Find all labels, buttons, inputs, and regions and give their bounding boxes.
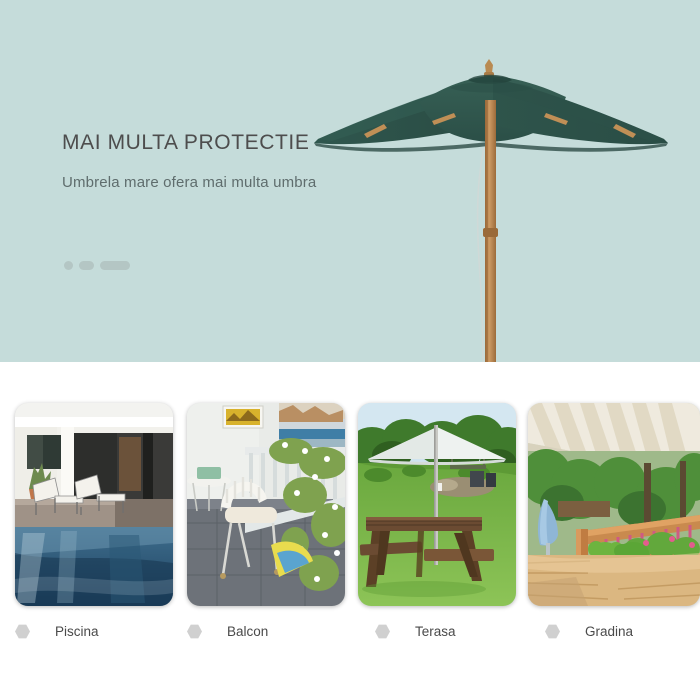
hero-product-image xyxy=(300,40,700,362)
caption-label: Terasa xyxy=(415,624,456,639)
hero-subtitle: Umbrela mare ofera mai multa umbra xyxy=(62,174,462,191)
thumbnail-gradina[interactable] xyxy=(528,403,700,606)
hexagon-bullet-icon xyxy=(545,624,560,639)
thumbnail-captions: Piscina Balcon Terasa Gradina xyxy=(0,624,700,664)
caption-terasa[interactable]: Terasa xyxy=(375,624,456,639)
hero-copy: MAI MULTA PROTECTIE Umbrela mare ofera m… xyxy=(62,131,462,191)
thumbnail-terasa[interactable] xyxy=(358,403,516,606)
caption-balcon[interactable]: Balcon xyxy=(187,624,268,639)
caption-gradina[interactable]: Gradina xyxy=(545,624,633,639)
pagination-dot-1[interactable] xyxy=(64,261,73,270)
hero-banner: MAI MULTA PROTECTIE Umbrela mare ofera m… xyxy=(0,0,700,362)
hero-title: MAI MULTA PROTECTIE xyxy=(62,131,462,155)
pagination-dot-3-active[interactable] xyxy=(100,261,130,270)
thumbnail-piscina[interactable] xyxy=(15,403,173,606)
caption-label: Balcon xyxy=(227,624,268,639)
hexagon-bullet-icon xyxy=(187,624,202,639)
pagination-dot-2[interactable] xyxy=(79,261,94,270)
caption-label: Gradina xyxy=(585,624,633,639)
product-banner-page: MAI MULTA PROTECTIE Umbrela mare ofera m… xyxy=(0,0,700,700)
usage-scenarios-section: Piscina Balcon Terasa Gradina xyxy=(0,362,700,700)
thumbnail-row xyxy=(0,403,700,607)
caption-piscina[interactable]: Piscina xyxy=(15,624,99,639)
hexagon-bullet-icon xyxy=(15,624,30,639)
thumbnail-balcon[interactable] xyxy=(187,403,345,606)
caption-label: Piscina xyxy=(55,624,99,639)
hexagon-bullet-icon xyxy=(375,624,390,639)
carousel-pagination[interactable] xyxy=(64,261,130,270)
